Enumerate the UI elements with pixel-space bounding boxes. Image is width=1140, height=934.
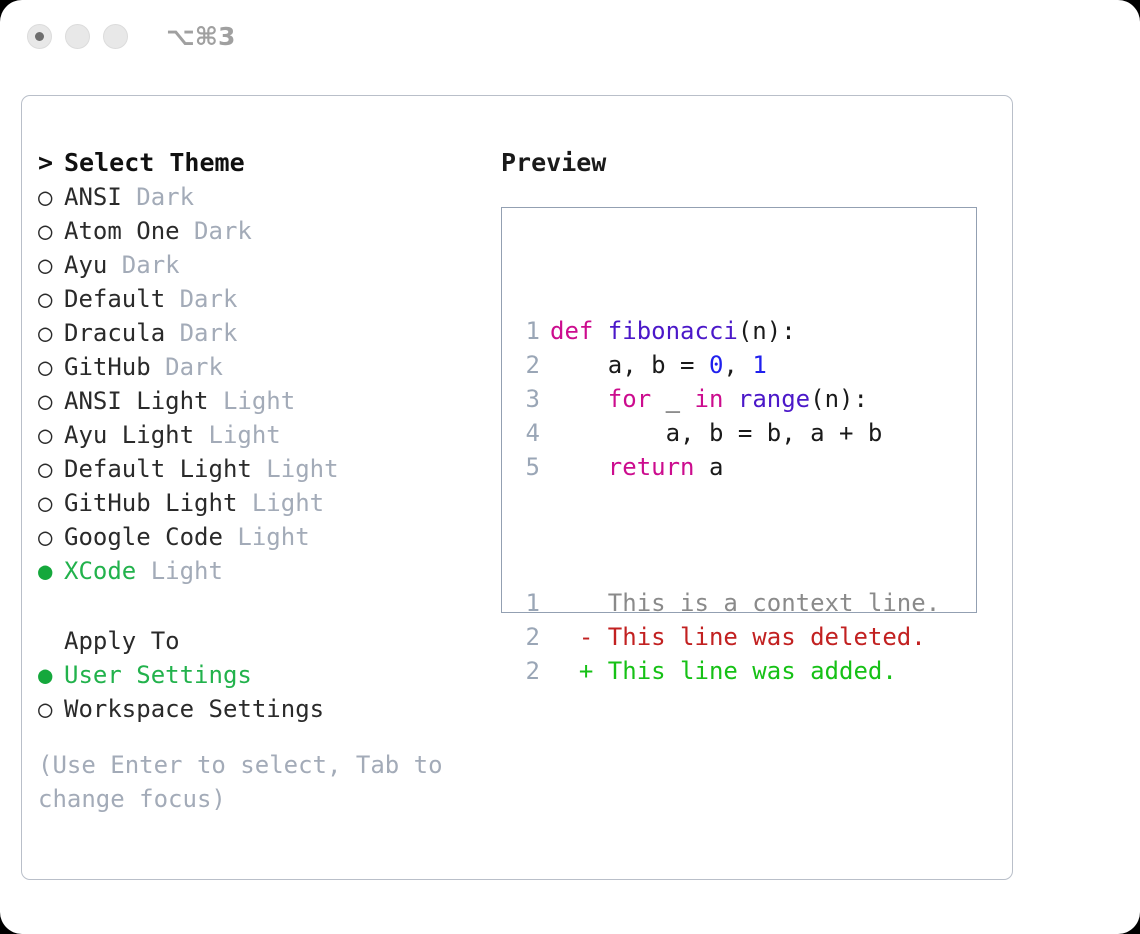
- diff-sample: 1 This is a context line.2 - This line w…: [516, 586, 940, 688]
- theme-item-variant: Dark: [151, 353, 223, 381]
- diff-line: 2 - This line was deleted.: [516, 620, 940, 654]
- radio-selected-icon: ●: [38, 658, 64, 692]
- code-token: ,: [723, 351, 752, 379]
- line-number: 1: [516, 314, 540, 348]
- apply-to-header: Apply To: [38, 624, 478, 658]
- theme-item-ansi[interactable]: ○ANSI Dark: [38, 180, 478, 214]
- theme-item-variant: Light: [136, 557, 223, 585]
- theme-item-variant: Dark: [107, 251, 179, 279]
- theme-item-name: Default: [64, 285, 165, 313]
- code-line: 4 a, b = b, a + b: [516, 416, 940, 450]
- line-number: 2: [516, 348, 540, 382]
- main-panel: >Select Theme ○ANSI Dark○Atom One Dark○A…: [21, 95, 1013, 880]
- theme-item-variant: Light: [194, 421, 281, 449]
- code-token: [723, 385, 737, 413]
- radio-unselected-icon: ○: [38, 692, 64, 726]
- code-token: a: [695, 453, 724, 481]
- theme-item-name: ANSI Light: [64, 387, 209, 415]
- apply-to-option-label: Workspace Settings: [64, 695, 324, 723]
- diff-line: 2 + This line was added.: [516, 654, 940, 688]
- line-number: 5: [516, 450, 540, 484]
- code-token: fibonacci: [608, 317, 738, 345]
- code-token: def: [550, 317, 608, 345]
- theme-selector-column: >Select Theme ○ANSI Dark○Atom One Dark○A…: [38, 146, 478, 816]
- theme-item-variant: Dark: [165, 319, 237, 347]
- apply-to-option-workspace-settings[interactable]: ○Workspace Settings: [38, 692, 478, 726]
- theme-item-atom-one[interactable]: ○Atom One Dark: [38, 214, 478, 248]
- theme-item-name: XCode: [64, 557, 136, 585]
- theme-item-variant: Light: [237, 489, 324, 517]
- code-token: _: [651, 385, 694, 413]
- preview-title: Preview: [501, 146, 991, 180]
- code-token: a, b =: [550, 351, 709, 379]
- code-token: a, b = b, a + b: [550, 419, 882, 447]
- radio-unselected-icon: ○: [38, 248, 64, 282]
- apply-to-label: Apply To: [64, 627, 180, 655]
- code-line: 1def fibonacci(n):: [516, 314, 940, 348]
- diff-line-number: 2: [516, 620, 540, 654]
- code-token: range: [738, 385, 810, 413]
- diff-text: This is a context line.: [593, 589, 940, 617]
- theme-item-variant: Dark: [122, 183, 194, 211]
- theme-item-variant: Light: [252, 455, 339, 483]
- code-token: (n):: [738, 317, 796, 345]
- radio-unselected-icon: ○: [38, 384, 64, 418]
- theme-item-name: ANSI: [64, 183, 122, 211]
- window-dot-active[interactable]: [27, 24, 52, 49]
- radio-unselected-icon: ○: [38, 350, 64, 384]
- code-token: 0: [709, 351, 723, 379]
- theme-item-ayu-light[interactable]: ○Ayu Light Light: [38, 418, 478, 452]
- window-controls: [27, 24, 128, 49]
- code-token: (n):: [810, 385, 868, 413]
- diff-line: 1 This is a context line.: [516, 586, 940, 620]
- theme-item-name: GitHub Light: [64, 489, 237, 517]
- line-number: 4: [516, 416, 540, 450]
- radio-unselected-icon: ○: [38, 452, 64, 486]
- code-token: [550, 385, 608, 413]
- code-token: for: [608, 385, 651, 413]
- code-token: [550, 453, 608, 481]
- theme-item-github-light[interactable]: ○GitHub Light Light: [38, 486, 478, 520]
- section-spacer: [38, 588, 478, 624]
- app-window: ⌥⌘3 >Select Theme ○ANSI Dark○Atom One Da…: [0, 0, 1140, 934]
- radio-unselected-icon: ○: [38, 520, 64, 554]
- theme-item-variant: Light: [223, 523, 310, 551]
- theme-item-ayu[interactable]: ○Ayu Dark: [38, 248, 478, 282]
- theme-item-dracula[interactable]: ○Dracula Dark: [38, 316, 478, 350]
- diff-sign: +: [550, 657, 593, 685]
- theme-item-default[interactable]: ○Default Dark: [38, 282, 478, 316]
- radio-unselected-icon: ○: [38, 180, 64, 214]
- select-theme-label: Select Theme: [64, 148, 245, 177]
- diff-text: This line was added.: [593, 657, 896, 685]
- keyboard-hint-text: (Use Enter to select, Tab to change focu…: [38, 748, 448, 816]
- apply-to-option-label: User Settings: [64, 661, 252, 689]
- theme-item-name: Google Code: [64, 523, 223, 551]
- window-dot-2[interactable]: [65, 24, 90, 49]
- diff-line-number: 1: [516, 586, 540, 620]
- code-line: 3 for _ in range(n):: [516, 382, 940, 416]
- preview-box: 1def fibonacci(n):2 a, b = 0, 13 for _ i…: [501, 207, 977, 613]
- preview-column: Preview 1def fibonacci(n):2 a, b = 0, 13…: [501, 146, 991, 613]
- active-dot-inner: [35, 32, 44, 41]
- diff-sign: [550, 589, 593, 617]
- theme-item-xcode[interactable]: ●XCode Light: [38, 554, 478, 588]
- keyboard-shortcut-label: ⌥⌘3: [166, 22, 235, 51]
- select-theme-header: >Select Theme: [38, 146, 478, 180]
- code-preview: 1def fibonacci(n):2 a, b = 0, 13 for _ i…: [516, 246, 940, 756]
- theme-item-name: Ayu: [64, 251, 107, 279]
- theme-item-name: Default Light: [64, 455, 252, 483]
- line-number: 3: [516, 382, 540, 416]
- theme-item-github[interactable]: ○GitHub Dark: [38, 350, 478, 384]
- code-token: in: [695, 385, 724, 413]
- diff-line-number: 2: [516, 654, 540, 688]
- apply-to-list: ●User Settings○Workspace Settings: [38, 658, 478, 726]
- diff-sign: -: [550, 623, 593, 651]
- title-bar: ⌥⌘3: [0, 0, 1140, 78]
- radio-unselected-icon: ○: [38, 282, 64, 316]
- radio-selected-icon: ●: [38, 554, 64, 588]
- hint-spacer: [38, 726, 478, 748]
- code-line: 2 a, b = 0, 1: [516, 348, 940, 382]
- theme-item-name: Ayu Light: [64, 421, 194, 449]
- code-sample: 1def fibonacci(n):2 a, b = 0, 13 for _ i…: [516, 314, 940, 484]
- theme-list: ○ANSI Dark○Atom One Dark○Ayu Dark○Defaul…: [38, 180, 478, 588]
- radio-unselected-icon: ○: [38, 486, 64, 520]
- radio-unselected-icon: ○: [38, 418, 64, 452]
- radio-unselected-icon: ○: [38, 214, 64, 248]
- apply-to-option-user-settings[interactable]: ●User Settings: [38, 658, 478, 692]
- code-token: return: [608, 453, 695, 481]
- theme-item-default-light[interactable]: ○Default Light Light: [38, 452, 478, 486]
- theme-item-ansi-light[interactable]: ○ANSI Light Light: [38, 384, 478, 418]
- theme-item-variant: Light: [209, 387, 296, 415]
- theme-item-google-code[interactable]: ○Google Code Light: [38, 520, 478, 554]
- window-dot-3[interactable]: [103, 24, 128, 49]
- theme-item-name: Atom One: [64, 217, 180, 245]
- theme-item-variant: Dark: [165, 285, 237, 313]
- theme-item-name: Dracula: [64, 319, 165, 347]
- code-line: 5 return a: [516, 450, 940, 484]
- prompt-marker-icon: >: [38, 146, 64, 180]
- theme-item-variant: Dark: [180, 217, 252, 245]
- radio-unselected-icon: ○: [38, 316, 64, 350]
- theme-item-name: GitHub: [64, 353, 151, 381]
- code-token: 1: [752, 351, 766, 379]
- diff-text: This line was deleted.: [593, 623, 925, 651]
